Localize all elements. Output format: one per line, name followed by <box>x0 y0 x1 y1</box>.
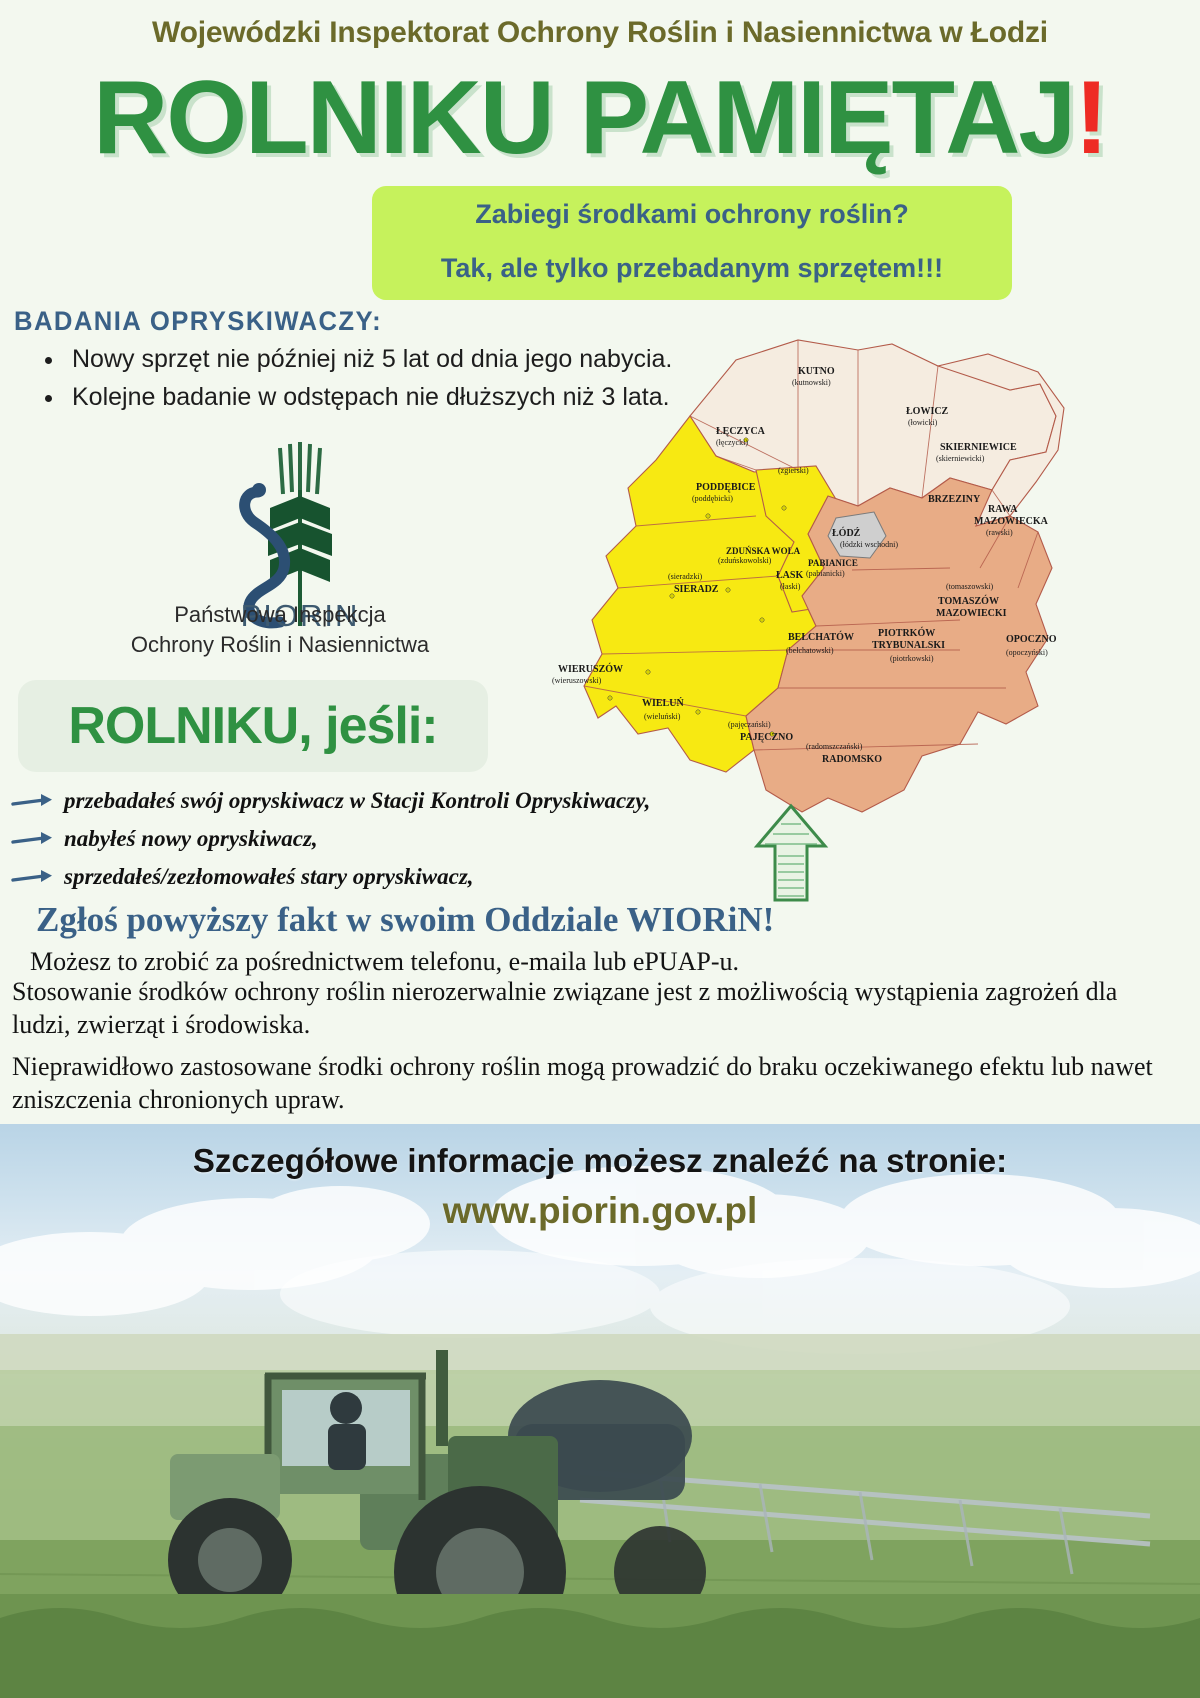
rolniku-band-label: ROLNIKU, jeśli: <box>18 680 488 772</box>
question-line-2: Tak, ale tylko przebadanym sprzętem!!! <box>390 250 994 286</box>
cta-paragraph-1: Możesz to zrobić za pośrednictwem telefo… <box>30 945 1170 978</box>
bottom-banner: Szczegółowe informacje możesz znaleźć na… <box>0 1124 1200 1698</box>
page-title: ROLNIKU PAMIĘTAJ! <box>0 66 1200 170</box>
question-box: Zabiegi środkami ochrony roślin? Tak, al… <box>372 186 1012 300</box>
cta-paragraph-3: Nieprawidłowo zastosowane środki ochrony… <box>12 1050 1182 1116</box>
cta-paragraph-2: Stosowanie środków ochrony roślin nieroz… <box>12 975 1172 1041</box>
rolniku-band: ROLNIKU, jeśli: <box>18 680 488 772</box>
section-heading-inspections: BADANIA OPRYSKIWACZY: <box>14 306 382 337</box>
condition-text: nabyłeś nowy opryskiwacz, <box>64 826 318 852</box>
poster-root: Wojewódzki Inspektorat Ochrony Roślin i … <box>0 0 1200 1698</box>
banner-line-1: Szczegółowe informacje możesz znaleźć na… <box>0 1142 1200 1180</box>
logo-caption-line-1: Państwowa Inspekcja <box>100 600 460 630</box>
arrow-up-icon <box>745 800 835 905</box>
organization-name: Wojewódzki Inspektorat Ochrony Roślin i … <box>0 16 1200 50</box>
banner-website: www.piorin.gov.pl <box>0 1190 1200 1232</box>
arrow-right-icon <box>10 866 56 888</box>
page-title-exclamation: ! <box>1074 60 1107 176</box>
arrow-right-icon <box>10 828 56 850</box>
logo-caption-line-2: Ochrony Roślin i Nasiennictwa <box>100 630 460 660</box>
call-to-action-heading: Zgłoś powyższy fakt w swoim Oddziale WIO… <box>36 900 774 940</box>
grass-foreground <box>0 1594 1200 1698</box>
page-title-text: ROLNIKU PAMIĘTAJ <box>93 60 1074 176</box>
condition-text: sprzedałeś/zezłomowałeś stary opryskiwac… <box>64 864 474 890</box>
arrow-right-icon <box>10 790 56 812</box>
logo-caption: Państwowa Inspekcja Ochrony Roślin i Nas… <box>100 600 460 660</box>
question-line-1: Zabiegi środkami ochrony roślin? <box>390 196 994 232</box>
